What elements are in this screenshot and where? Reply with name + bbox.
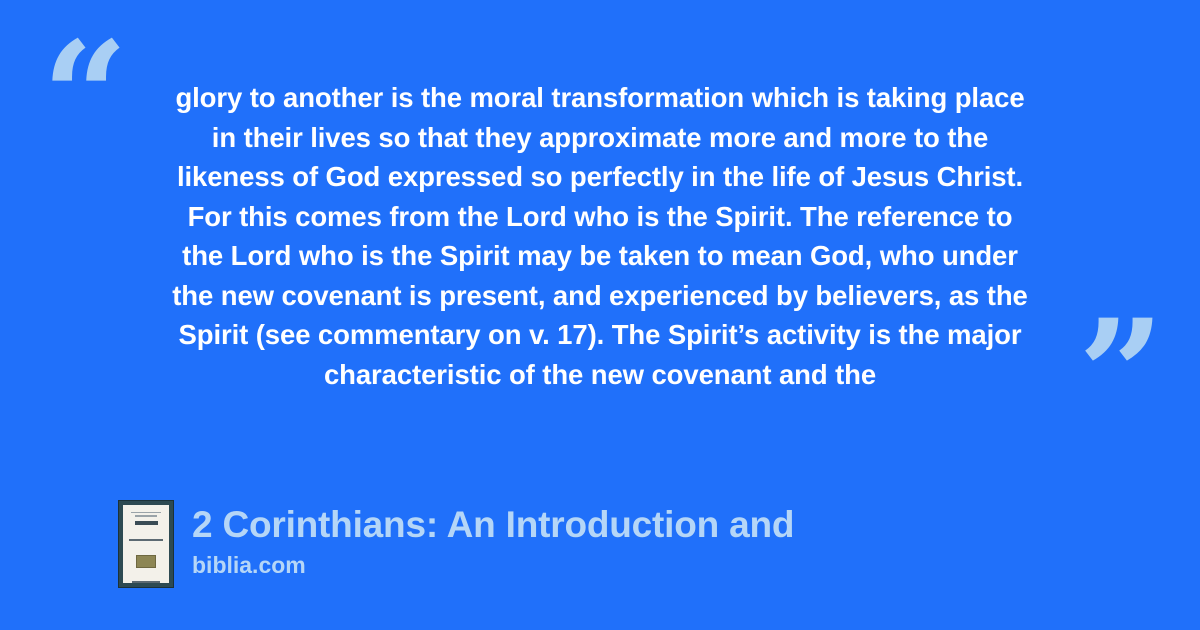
cover-emblem-icon bbox=[136, 555, 156, 568]
quote-block: glory to another is the moral transforma… bbox=[100, 78, 1100, 394]
book-cover-face bbox=[123, 505, 169, 583]
cover-series-line-1 bbox=[131, 512, 160, 513]
quote-line: the Lord who is the Spirit may be taken … bbox=[100, 236, 1100, 276]
site-name[interactable]: biblia.com bbox=[192, 551, 794, 579]
footer-text: 2 Corinthians: An Introduction and bibli… bbox=[192, 500, 794, 579]
quote-card: “ glory to another is the moral transfor… bbox=[0, 0, 1200, 630]
quote-line: the new covenant is present, and experie… bbox=[100, 276, 1100, 316]
cover-series-line-2 bbox=[135, 515, 157, 516]
quote-line: characteristic of the new covenant and t… bbox=[100, 355, 1100, 395]
cover-author-line bbox=[132, 581, 161, 583]
quote-line: Spirit (see commentary on v. 17). The Sp… bbox=[100, 315, 1100, 355]
quote-line: For this comes from the Lord who is the … bbox=[100, 197, 1100, 237]
book-cover-thumbnail bbox=[118, 500, 174, 588]
quote-line: likeness of God expressed so perfectly i… bbox=[100, 157, 1100, 197]
close-quote-icon: ” bbox=[1078, 300, 1164, 450]
book-title: 2 Corinthians: An Introduction and bbox=[192, 502, 794, 548]
cover-title-line bbox=[129, 539, 163, 541]
footer: 2 Corinthians: An Introduction and bibli… bbox=[118, 500, 794, 588]
quote-line: in their lives so that they approximate … bbox=[100, 118, 1100, 158]
quote-line: glory to another is the moral transforma… bbox=[100, 78, 1100, 118]
cover-band bbox=[135, 521, 158, 525]
